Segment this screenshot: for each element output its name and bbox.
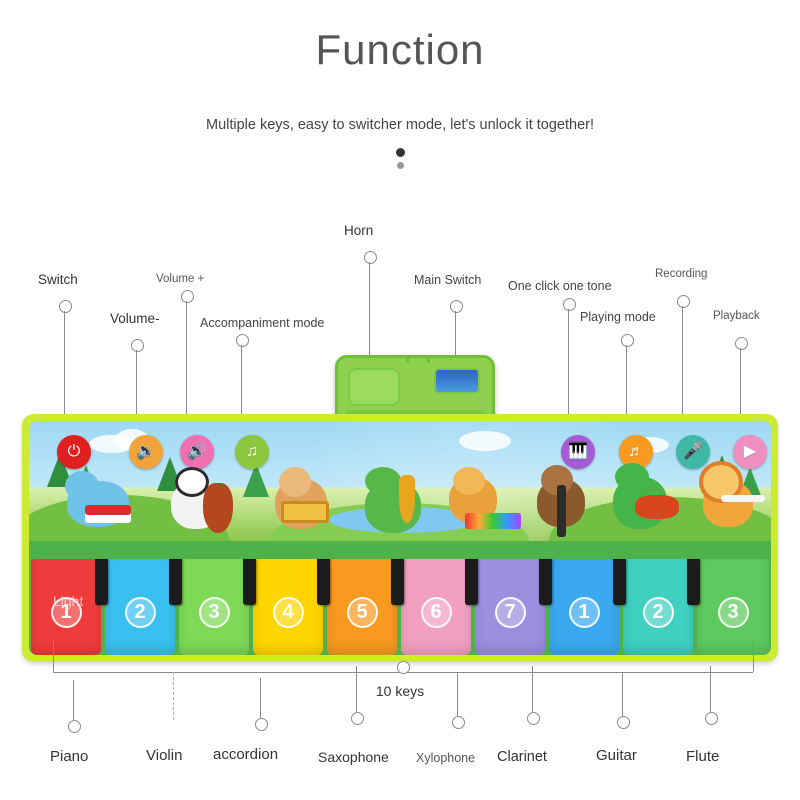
control-box-tab (406, 355, 430, 363)
white-key-10[interactable]: 3 (697, 559, 769, 655)
label-clarinet: Clarinet (497, 749, 547, 765)
leader-knob-volume-down (131, 339, 144, 352)
black-key-7[interactable] (539, 559, 552, 605)
white-key-2[interactable]: 2 (105, 559, 175, 655)
carousel-dots[interactable] (0, 148, 800, 174)
label-xylophone: Xylophone (416, 751, 475, 765)
leader-knob-switch (59, 300, 72, 313)
leader-knob-horn (364, 251, 377, 264)
callout-accompaniment-mode: Accompaniment mode (200, 316, 324, 330)
key-number: 2 (125, 597, 156, 628)
key-number: 3 (199, 597, 230, 628)
callout-horn: Horn (344, 223, 373, 238)
callout-switch: Switch (38, 272, 78, 287)
leader-line-xylophone (457, 672, 458, 716)
black-key-6[interactable] (465, 559, 478, 605)
callout-volume-up: Volume + (156, 273, 204, 285)
leader-knob-flute (705, 712, 718, 725)
function-infographic: Function Multiple keys, easy to switcher… (0, 0, 800, 800)
animal-dog-xylophone (441, 467, 527, 541)
volume-up-button[interactable]: 🔊 (180, 435, 214, 469)
animal-monkey-clarinet (529, 465, 605, 541)
callout-recording: Recording (655, 268, 707, 280)
animal-lion-flute (695, 465, 771, 541)
black-key-3[interactable] (243, 559, 256, 605)
ten-keys-bracket-left (53, 640, 54, 672)
leader-line-horn (369, 262, 370, 362)
leader-line-flute (710, 666, 711, 712)
leader-knob-xylophone (452, 716, 465, 729)
callout-main-switch: Main Switch (414, 273, 481, 287)
white-key-5[interactable]: 5 (327, 559, 397, 655)
label-saxophone: Saxophone (318, 749, 389, 765)
leader-knob-accordion (255, 718, 268, 731)
black-key-2[interactable] (169, 559, 182, 605)
light-label: Light (53, 593, 83, 609)
white-key-6[interactable]: 6 (401, 559, 471, 655)
leader-knob-main-switch (450, 300, 463, 313)
white-key-9[interactable]: 2 (623, 559, 693, 655)
leader-line-guitar (622, 672, 623, 716)
leader-knob-volume-up (181, 290, 194, 303)
page-subtitle: Multiple keys, easy to switcher mode, le… (0, 117, 800, 133)
animal-panda-violin (169, 467, 245, 539)
leader-line-piano (73, 680, 74, 720)
leader-line-clarinet (532, 666, 533, 712)
leader-line-saxophone (356, 666, 357, 712)
key-number: 5 (347, 597, 378, 628)
label-accordion: accordion (213, 746, 278, 763)
leader-knob-recording (677, 295, 690, 308)
speaker-grille-icon (348, 368, 400, 406)
black-key-8[interactable] (613, 559, 626, 605)
leader-knob-playback (735, 337, 748, 350)
accompaniment-mode-button[interactable]: ♫ (235, 435, 269, 469)
key-number: 4 (273, 597, 304, 628)
leader-knob-accompaniment (236, 334, 249, 347)
one-click-one-tone-button[interactable]: 🎹 (561, 435, 595, 469)
leader-knob-one-click-one-tone (563, 298, 576, 311)
key-number: 7 (495, 597, 526, 628)
key-number: 1 (569, 597, 600, 628)
animal-squirrel-accordion (269, 467, 345, 539)
carousel-dot-active[interactable] (396, 148, 405, 157)
black-key-4[interactable] (317, 559, 330, 605)
label-violin: Violin (146, 747, 182, 764)
leader-knob-clarinet (527, 712, 540, 725)
callout-one-click-one-tone: One click one tone (508, 279, 612, 293)
black-key-9[interactable] (687, 559, 700, 605)
white-key-4[interactable]: 4 (253, 559, 323, 655)
label-piano: Piano (50, 748, 88, 765)
keyboard[interactable]: 1 2 3 4 5 6 7 1 2 3 Light (29, 559, 771, 655)
callout-playback: Playback (713, 310, 760, 322)
animal-dinosaur-piano (63, 471, 135, 537)
black-key-5[interactable] (391, 559, 404, 605)
cloud-icon (459, 431, 511, 451)
display-screen (434, 368, 480, 394)
key-number: 6 (421, 597, 452, 628)
page-title: Function (0, 26, 800, 74)
leader-knob-guitar (617, 716, 630, 729)
label-guitar: Guitar (596, 747, 637, 764)
white-key-7[interactable]: 7 (475, 559, 545, 655)
key-number: 3 (718, 597, 749, 628)
callout-playing-mode: Playing mode (580, 310, 656, 324)
leader-knob-playing-mode (621, 334, 634, 347)
playback-button[interactable]: ▶ (733, 435, 767, 469)
mat-inner: ⏻ 🔉 🔊 ♫ 🎹 ♬ 🎤 ▶ (29, 421, 771, 655)
black-key-1[interactable] (95, 559, 108, 605)
animal-crocodile-saxophone (359, 465, 439, 541)
callout-volume-down: Volume- (110, 311, 160, 326)
animal-dinosaur-guitar (607, 463, 691, 541)
white-key-8[interactable]: 1 (549, 559, 619, 655)
leader-line-accordion (260, 678, 261, 718)
white-key-3[interactable]: 3 (179, 559, 249, 655)
carousel-dot-inactive[interactable] (397, 162, 404, 169)
key-number: 2 (643, 597, 674, 628)
volume-down-button[interactable]: 🔉 (129, 435, 163, 469)
ten-keys-bracket-right (753, 640, 754, 672)
label-flute: Flute (686, 748, 719, 765)
power-button[interactable]: ⏻ (57, 435, 91, 469)
leader-line-violin (173, 672, 174, 720)
ten-keys-knob (397, 661, 410, 674)
ten-keys-caption: 10 keys (0, 683, 800, 699)
leader-knob-saxophone (351, 712, 364, 725)
leader-knob-piano (68, 720, 81, 733)
music-mat[interactable]: ⏻ 🔉 🔊 ♫ 🎹 ♬ 🎤 ▶ (22, 414, 778, 662)
